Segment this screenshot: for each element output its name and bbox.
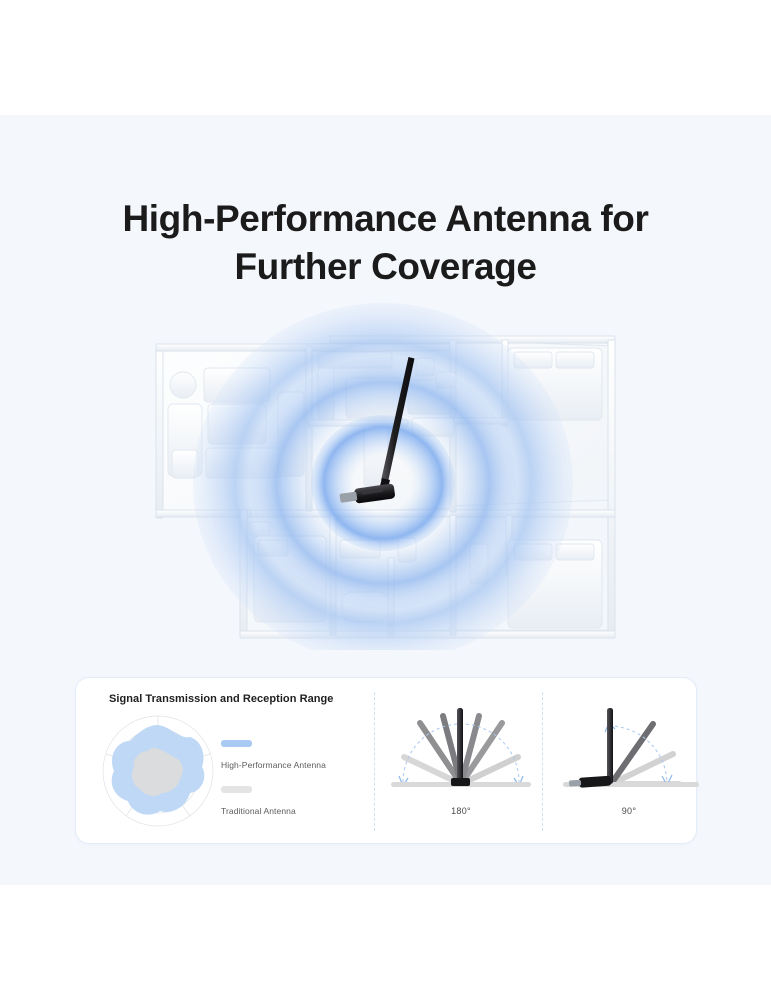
chart-legend: High-Performance Antenna Traditional Ant… xyxy=(221,740,366,832)
ghost-antenna-positions xyxy=(611,724,679,784)
signal-range-card: Signal Transmission and Reception Range xyxy=(75,677,697,844)
legend-item-traditional: Traditional Antenna xyxy=(221,786,366,819)
antenna-rod xyxy=(457,708,463,784)
angle-caption-90: 90° xyxy=(549,806,709,816)
page-title: High-Performance Antenna for Further Cov… xyxy=(0,195,771,291)
antenna-rotation-180-diagram: 180° xyxy=(381,698,541,828)
radar-chart xyxy=(98,711,218,833)
legend-item-high-performance: High-Performance Antenna xyxy=(221,740,366,773)
card-title: Signal Transmission and Reception Range xyxy=(109,693,333,705)
antenna-base xyxy=(451,778,470,786)
headline-line-2: Further Coverage xyxy=(0,243,771,291)
angle-caption-180: 180° xyxy=(381,806,541,816)
legend-swatch-gray xyxy=(221,786,252,793)
headline-line-1: High-Performance Antenna for xyxy=(122,198,648,239)
legend-label-traditional: Traditional Antenna xyxy=(221,806,296,816)
product-feature-page: High-Performance Antenna for Further Cov… xyxy=(0,0,771,1000)
antenna-rotation-90-diagram: 90° xyxy=(549,698,709,828)
floor-plan-illustration xyxy=(150,300,620,650)
legend-label-high-performance: High-Performance Antenna xyxy=(221,760,326,770)
antenna-rod xyxy=(607,708,613,784)
card-divider-2 xyxy=(542,692,543,831)
card-divider-1 xyxy=(374,692,375,831)
legend-swatch-blue xyxy=(221,740,252,747)
